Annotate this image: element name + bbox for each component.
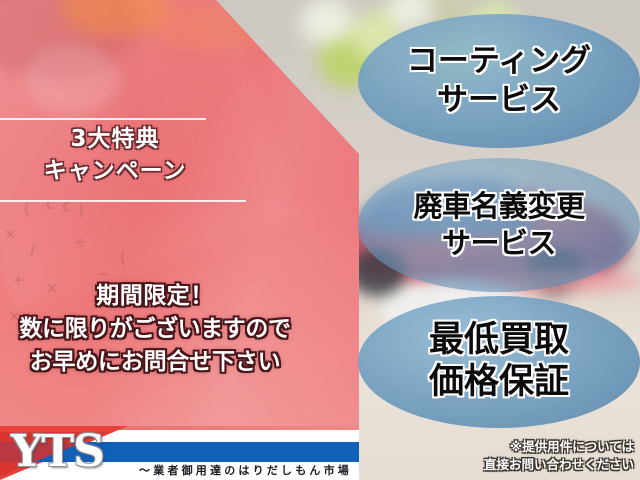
disclaimer-line-1: ※提供用件については <box>404 438 634 456</box>
promo-text-block: 期間限定！ 数に限りがございますので お早めにお問合せ下さい <box>0 282 310 378</box>
service-badge-coating: コーティング サービス <box>358 14 640 148</box>
logo-wordmark: YTS <box>11 430 104 474</box>
promo-line-3: お早めにお問合せ下さい <box>0 348 310 378</box>
headline-line-1: 3大特典 <box>0 126 230 153</box>
badge-text: コーティング サービス <box>407 46 591 116</box>
divider-line-top <box>0 118 206 120</box>
disclaimer-line-2: 直接お問い合わせください <box>404 456 634 474</box>
logo-bar: YTS 〜業者御用達のはりだしもん市場 <box>0 426 359 480</box>
promo-line-2: 数に限りがございますので <box>0 315 310 345</box>
headline-block: 3大特典 キャンペーン <box>0 126 230 185</box>
badge-2-line-2: サービス <box>413 229 584 259</box>
promo-line-1: 期間限定！ <box>0 282 310 312</box>
headline-line-2: キャンペーン <box>0 158 230 185</box>
badge-1-line-2: サービス <box>407 85 591 117</box>
service-badge-price-guarantee: 最低買取 価格保証 <box>358 296 640 428</box>
divider-line-bottom <box>0 200 246 202</box>
badge-text: 最低買取 価格保証 <box>429 323 569 400</box>
badge-text: 廃車名義変更 サービス <box>413 192 584 258</box>
service-badge-scrap-transfer: 廃車名義変更 サービス <box>358 158 640 292</box>
badge-2-line-1: 廃車名義変更 <box>413 192 584 222</box>
badge-3-line-1: 最低買取 <box>429 323 569 359</box>
logo-tagline: 〜業者御用達のはりだしもん市場 <box>139 462 352 478</box>
advertisement-banner: ( c c ) × / ÷ + × − ( − × ÷ 3大特典 キャンペーン … <box>0 0 640 480</box>
badge-3-line-2: 価格保証 <box>429 365 569 401</box>
badge-1-line-1: コーティング <box>407 46 591 78</box>
disclaimer-text: ※提供用件については 直接お問い合わせください <box>404 438 634 474</box>
